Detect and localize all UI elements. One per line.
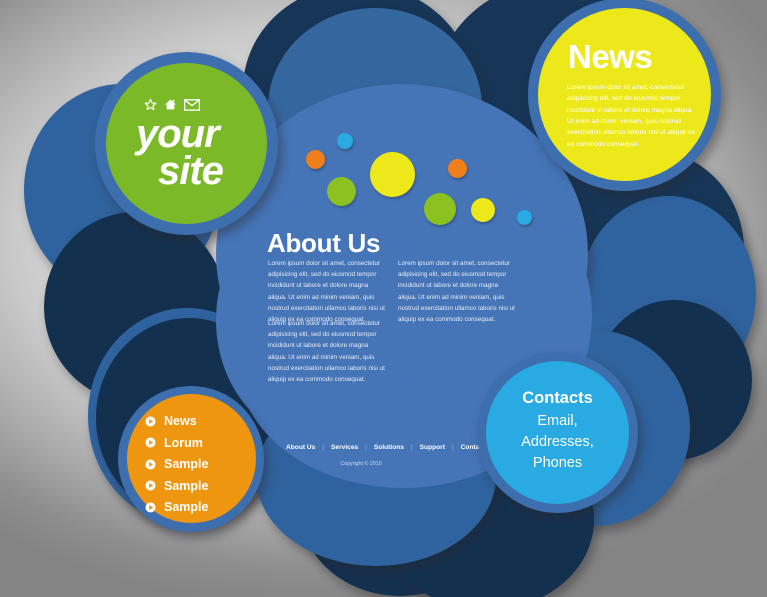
menu-item-2[interactable]: Sample	[145, 457, 208, 471]
menu-item-4[interactable]: Sample	[145, 500, 208, 514]
footer-link-about-us[interactable]: About Us	[286, 444, 315, 451]
footer-link-solutions[interactable]: Solutions	[374, 444, 404, 451]
news-heading: News	[568, 38, 652, 76]
menu-item-0[interactable]: News	[145, 414, 208, 428]
contacts-addresses-label: Addresses,	[486, 432, 629, 453]
menu-list[interactable]: NewsLorumSampleSampleSample	[145, 414, 208, 514]
logo-wordmark: your site	[136, 116, 223, 190]
about-paragraph-1: Lorem ipsum dolor sit amet, consectetur …	[268, 258, 388, 325]
news-body-text: Lorem ipsum dolor sit amet, consectetur …	[567, 82, 701, 150]
menu-item-label: Lorum	[164, 436, 203, 450]
dot-cyan-1	[337, 133, 353, 149]
menu-item-3[interactable]: Sample	[145, 479, 208, 493]
logo-line-2: site	[136, 153, 223, 190]
footer-link-support[interactable]: Support	[420, 444, 445, 451]
dot-yellow-1	[370, 152, 415, 197]
footer-separator: |	[452, 444, 454, 451]
home-icon[interactable]	[164, 98, 177, 111]
mail-icon[interactable]	[184, 99, 200, 111]
dot-green-2	[424, 193, 456, 225]
dot-green-1	[327, 177, 356, 206]
footer-separator: |	[411, 444, 413, 451]
contacts-heading: Contacts	[486, 389, 629, 408]
contacts-phones-label: Phones	[486, 453, 629, 474]
about-us-heading: About Us	[267, 228, 380, 259]
menu-item-label: Sample	[164, 500, 208, 514]
contacts-email-label: Email,	[486, 411, 629, 432]
footer-separator: |	[322, 444, 324, 451]
copyright-text: Copyright © 2010	[286, 461, 436, 467]
menu-item-label: Sample	[164, 457, 208, 471]
play-arrow-icon	[145, 459, 156, 470]
footer-link-services[interactable]: Services	[331, 444, 358, 451]
play-arrow-icon	[145, 437, 156, 448]
page-canvas: About Us Lorem ipsum dolor sit amet, con…	[0, 0, 767, 597]
play-arrow-icon	[145, 416, 156, 427]
menu-item-1[interactable]: Lorum	[145, 436, 208, 450]
footer-navigation[interactable]: About Us|Services|Solutions|Support|Cont…	[286, 444, 489, 451]
menu-card[interactable]: NewsLorumSampleSampleSample	[127, 394, 256, 523]
play-arrow-icon	[145, 502, 156, 513]
menu-item-label: Sample	[164, 479, 208, 493]
menu-item-label: News	[164, 414, 197, 428]
footer-separator: |	[365, 444, 367, 451]
dot-cyan-2	[517, 210, 532, 225]
about-paragraph-2: Lorem ipsum dolor sit amet, consectetur …	[268, 318, 388, 385]
contacts-body-text: Email, Addresses, Phones	[486, 411, 629, 474]
about-paragraph-3: Lorem ipsum dolor sit amet, consectetur …	[398, 258, 518, 325]
play-arrow-icon	[145, 480, 156, 491]
dot-orange-2	[448, 159, 467, 178]
news-card[interactable]: News Lorem ipsum dolor sit amet, consect…	[538, 8, 711, 181]
logo-card[interactable]: your site	[106, 63, 267, 224]
dot-orange-1	[306, 150, 325, 169]
star-icon[interactable]	[144, 98, 157, 111]
dot-yellow-2	[471, 198, 495, 222]
logo-icon-row	[144, 98, 200, 111]
contacts-card[interactable]: Contacts Email, Addresses, Phones	[486, 361, 629, 504]
